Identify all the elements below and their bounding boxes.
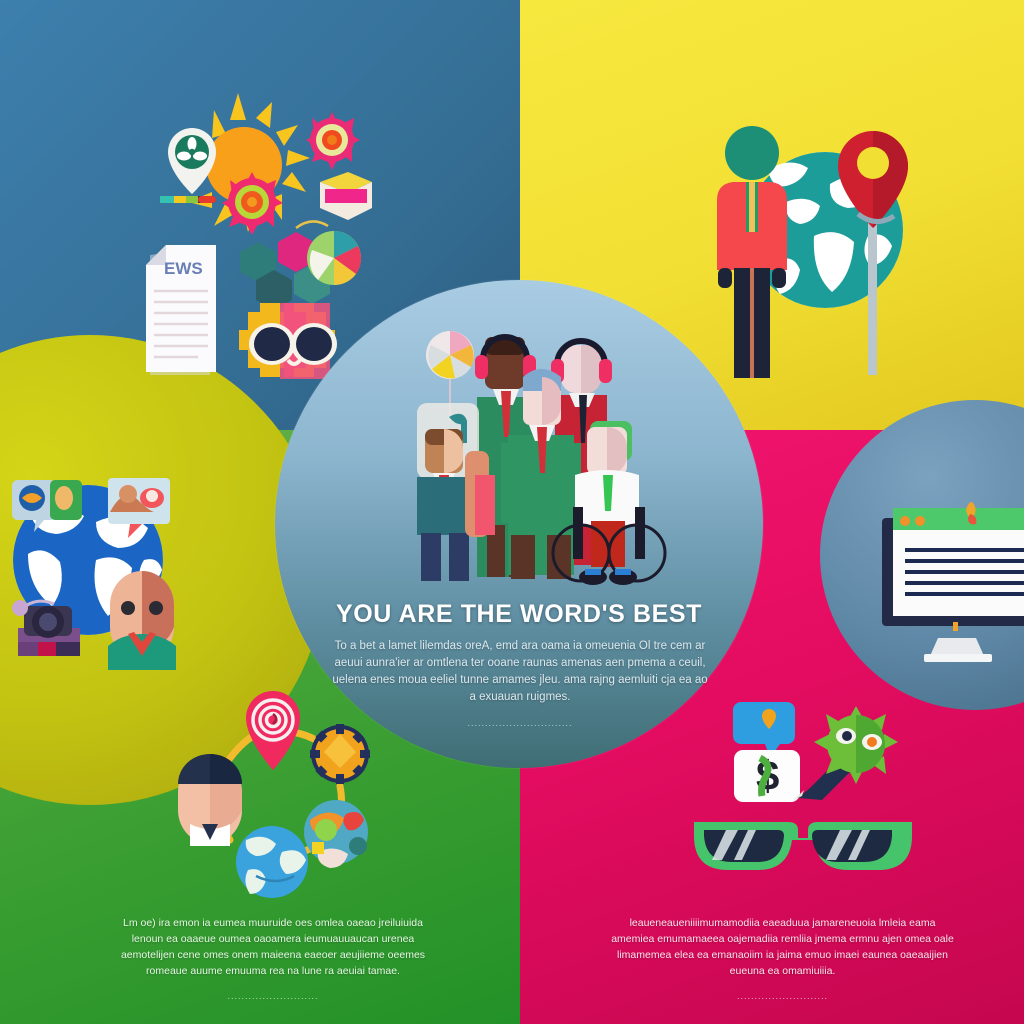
gear-icon [310, 724, 370, 784]
document-label: EWS [164, 259, 203, 278]
top-right-icon-cluster [690, 110, 930, 385]
right-circle-content [860, 480, 1024, 670]
flower-burst-icon [306, 112, 360, 170]
bottom-left-text-block: Lm oe) ira emon ia eumea muuruide oes om… [108, 915, 438, 1004]
sunglasses-icon [694, 822, 912, 870]
top-left-icon-cluster: EWS [120, 90, 380, 380]
flower-burst-icon-2 [222, 172, 283, 235]
avatar-icon [108, 571, 176, 670]
dollar-card-icon: $ [734, 750, 800, 802]
bottom-right-divider: .......................... [610, 988, 955, 1004]
bottom-left-divider: .......................... [108, 988, 438, 1004]
person-icon [717, 126, 787, 378]
monitor-icon [882, 502, 1024, 662]
page-headline: YOU ARE THE WORD'S BEST [275, 600, 763, 629]
left-circle-content [0, 450, 230, 680]
map-pin-spiral-icon [246, 691, 300, 770]
gear-goggles-icon [239, 303, 337, 379]
bottom-left-paragraph: Lm oe) ira emon ia eumea muuruide oes om… [121, 917, 425, 977]
speech-bubble-icon [733, 702, 795, 758]
bottom-right-text-block: leaueneaueniiiimumamodiia eaeaduua jamar… [610, 915, 955, 1004]
document-icon: EWS [146, 245, 216, 375]
poster-canvas: EWS [0, 0, 1024, 1024]
avatar-icon [178, 754, 242, 846]
center-people-group [405, 325, 670, 595]
bottom-center-cycle-diagram [160, 690, 395, 905]
bottom-right-icon-cluster: $ [690, 700, 915, 880]
pie-chart-icon [307, 231, 361, 285]
browser-window-icon [893, 502, 1024, 616]
cube-icon [320, 172, 372, 220]
bottom-right-paragraph: leaueneaueniiiimumamodiia eaeaduua jamar… [611, 917, 954, 977]
camera-icon [12, 600, 80, 656]
color-cluster-icon [304, 800, 368, 868]
map-pin-fan-icon [160, 128, 216, 203]
globe-icon [236, 826, 308, 898]
